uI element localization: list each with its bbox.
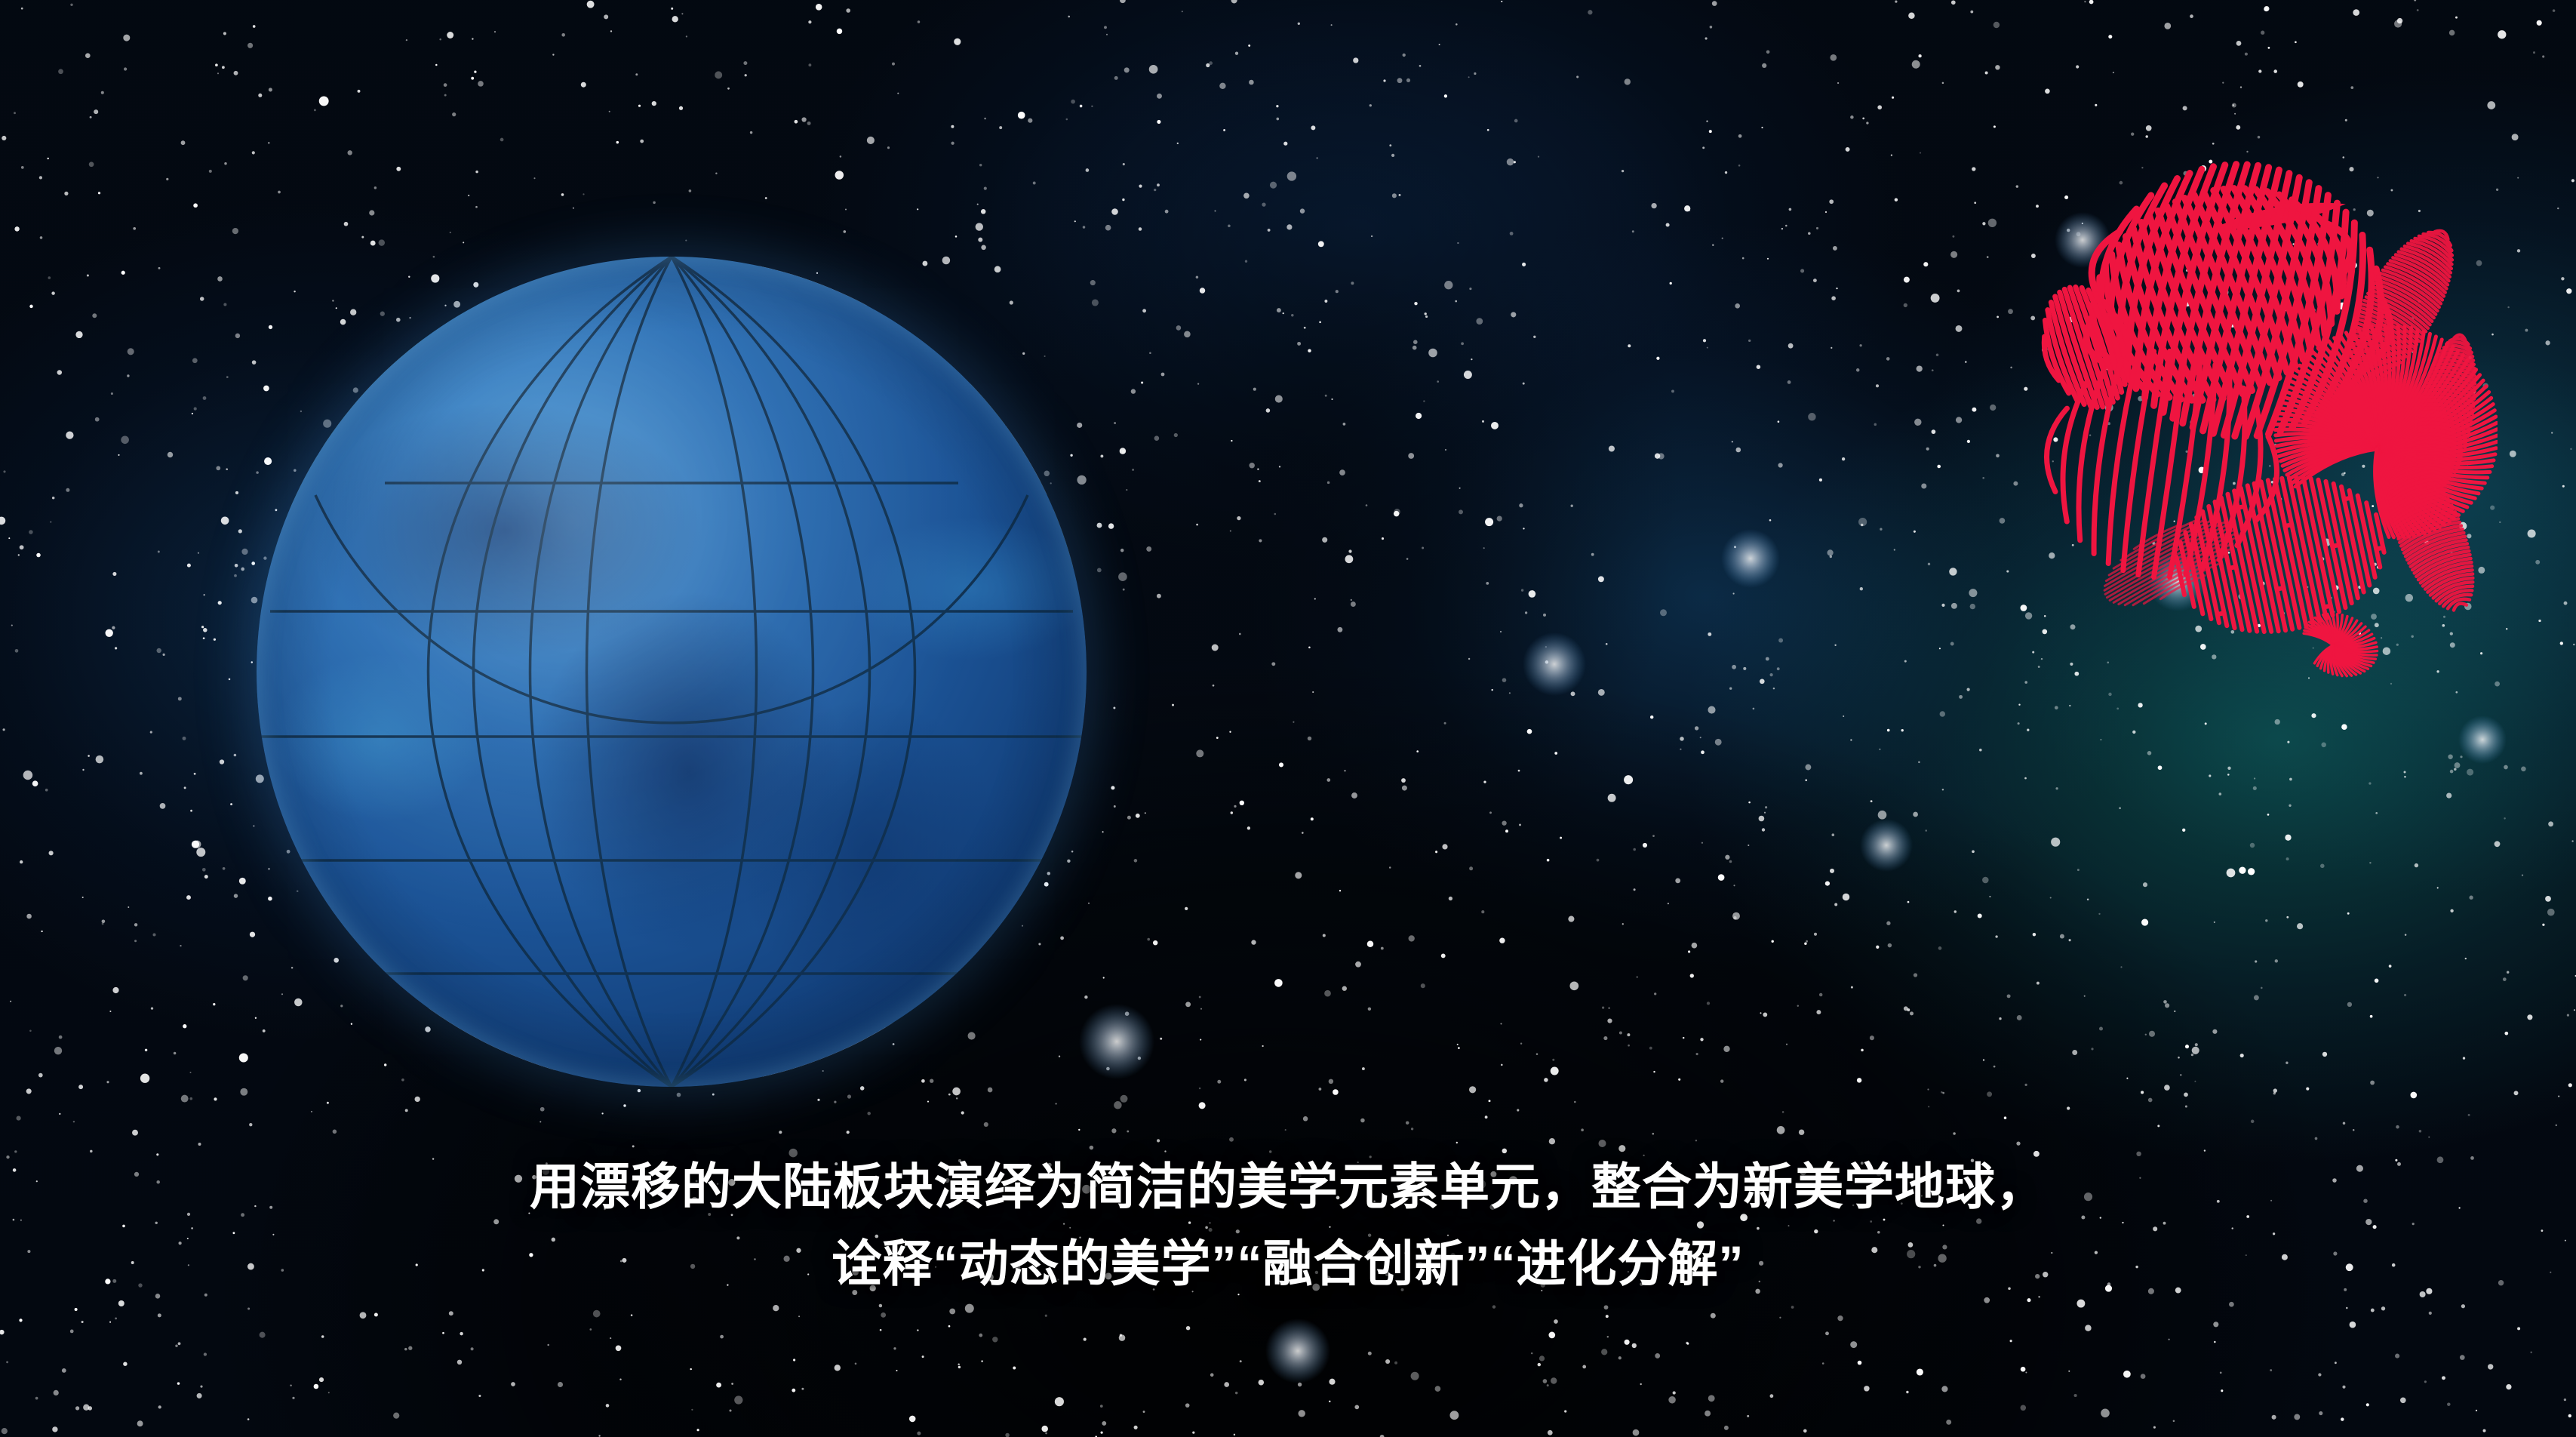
caption-line-2: 诠释“动态的美学”“融合创新”“进化分解” bbox=[0, 1232, 2576, 1297]
aesthetic-plate-units bbox=[1381, 113, 2498, 1109]
globe-rim-light bbox=[257, 257, 1087, 1087]
slide-canvas: 用漂移的大陆板块演绎为简洁的美学元素单元，整合为新美学地球， 诠释“动态的美学”… bbox=[0, 0, 2576, 1437]
earth-globe bbox=[257, 257, 1087, 1087]
plate-fan-small bbox=[2295, 605, 2386, 685]
caption-line-1: 用漂移的大陆板块演绎为简洁的美学元素单元，整合为新美学地球， bbox=[0, 1155, 2576, 1220]
slide-caption: 用漂移的大陆板块演绎为简洁的美学元素单元，整合为新美学地球， 诠释“动态的美学”… bbox=[0, 1155, 2576, 1297]
